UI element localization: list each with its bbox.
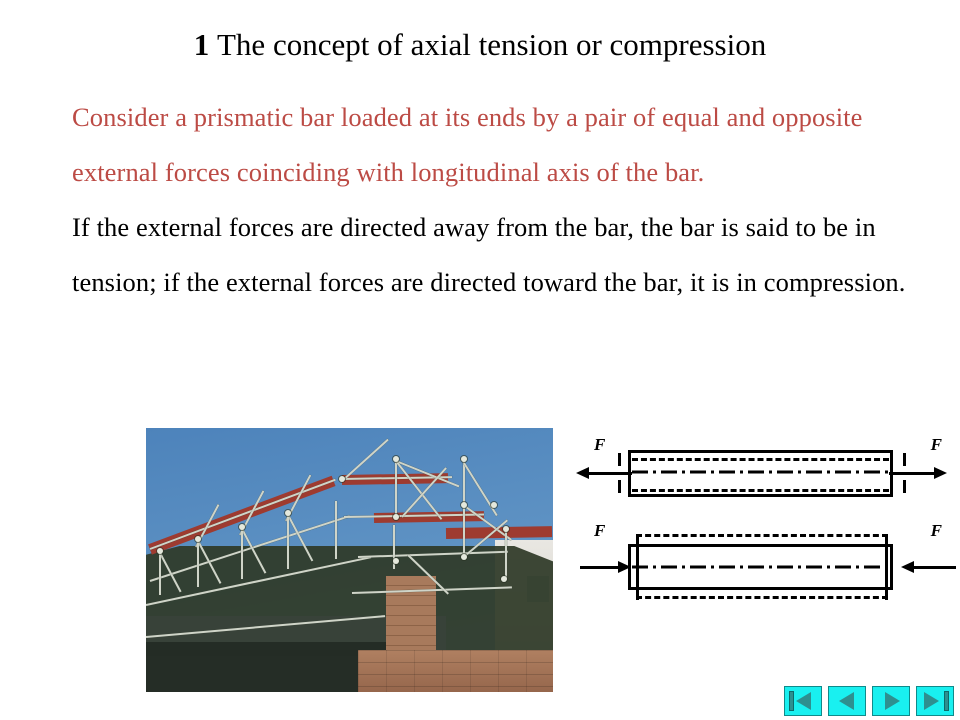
truss-node bbox=[491, 502, 497, 508]
truss-structure-photo bbox=[146, 428, 553, 692]
truss-member bbox=[197, 541, 199, 587]
slide-navigation-bar[interactable] bbox=[784, 686, 956, 718]
paragraph-red: Consider a prismatic bar loaded at its e… bbox=[72, 90, 932, 200]
truss-node bbox=[461, 554, 467, 560]
end-tick-left bbox=[636, 534, 639, 600]
title-spacer bbox=[209, 27, 217, 62]
last-slide-button[interactable] bbox=[916, 686, 954, 716]
truss-member bbox=[395, 461, 397, 519]
stop-bar-icon bbox=[789, 691, 794, 711]
force-arrow-line-left bbox=[580, 566, 620, 569]
end-tick-left-lower bbox=[618, 480, 621, 493]
truss-node bbox=[393, 514, 399, 520]
truss-member bbox=[463, 507, 465, 557]
truss-node bbox=[393, 558, 399, 564]
truss-node bbox=[195, 536, 201, 542]
first-slide-button[interactable] bbox=[784, 686, 822, 716]
force-label-left: F bbox=[594, 436, 605, 453]
deformation-dash-top bbox=[632, 458, 889, 461]
triangle-left-icon bbox=[796, 692, 811, 710]
deformation-dash-bottom bbox=[632, 489, 889, 492]
force-label-right: F bbox=[931, 436, 942, 453]
deformation-dash-bottom bbox=[636, 596, 888, 599]
force-label-left: F bbox=[594, 522, 605, 539]
tension-bar-diagram: F F bbox=[576, 428, 960, 516]
truss-node bbox=[503, 526, 509, 532]
force-arrow-head-right bbox=[901, 561, 914, 573]
truss-member bbox=[241, 529, 243, 579]
end-tick-right bbox=[885, 534, 888, 600]
center-axis-line bbox=[632, 564, 890, 570]
lower-deck-shadow bbox=[146, 642, 386, 692]
truss-node bbox=[157, 548, 163, 554]
truss-node bbox=[239, 524, 245, 530]
triangle-right-icon bbox=[924, 692, 939, 710]
truss-member bbox=[505, 531, 507, 579]
next-slide-button[interactable] bbox=[872, 686, 910, 716]
end-tick-left-upper bbox=[618, 453, 621, 466]
truss-member bbox=[335, 501, 337, 559]
bar-diagrams-group: F F F F bbox=[576, 428, 960, 610]
triangle-right-icon bbox=[885, 692, 900, 710]
force-arrow-line-right bbox=[914, 566, 956, 569]
deformation-dash-top bbox=[636, 534, 888, 537]
truss-node bbox=[339, 476, 345, 482]
force-arrow-head-right bbox=[934, 467, 947, 479]
truss-member bbox=[159, 553, 161, 595]
stop-bar-icon bbox=[944, 691, 949, 711]
triangle-left-icon bbox=[839, 692, 854, 710]
end-tick-right-upper bbox=[903, 453, 906, 466]
truss-node bbox=[393, 456, 399, 462]
title-number: 1 bbox=[194, 27, 210, 62]
force-arrow-head-left bbox=[576, 467, 589, 479]
stone-wall bbox=[358, 650, 553, 692]
truss-node bbox=[285, 510, 291, 516]
page-title: 1 The concept of axial tension or compre… bbox=[0, 26, 960, 64]
center-axis-line bbox=[632, 469, 890, 475]
truss-node bbox=[501, 576, 507, 582]
compression-bar-diagram: F F bbox=[576, 518, 960, 606]
force-arrow-head-left bbox=[618, 561, 631, 573]
truss-member bbox=[287, 515, 289, 569]
force-label-right: F bbox=[931, 522, 942, 539]
truss-node bbox=[461, 502, 467, 508]
body-text-block: Consider a prismatic bar loaded at its e… bbox=[72, 90, 932, 310]
truss-node bbox=[461, 456, 467, 462]
end-tick-right-lower bbox=[903, 480, 906, 493]
previous-slide-button[interactable] bbox=[828, 686, 866, 716]
force-arrow-line-right bbox=[889, 472, 935, 475]
title-text: The concept of axial tension or compress… bbox=[217, 27, 766, 62]
paragraph-black: If the external forces are directed away… bbox=[72, 200, 932, 310]
force-arrow-line-left bbox=[588, 472, 632, 475]
